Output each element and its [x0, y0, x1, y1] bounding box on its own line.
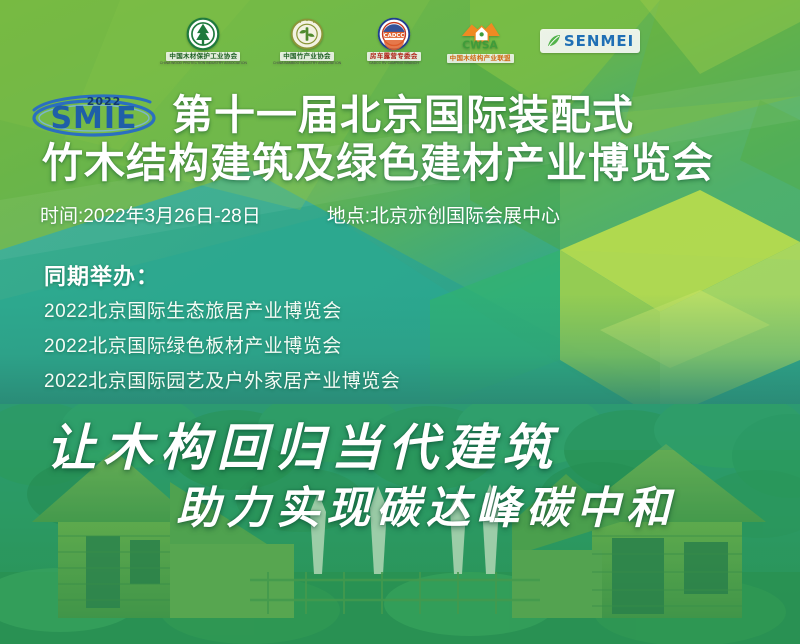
event-venue-label: 地点:: [327, 206, 370, 227]
senmei-wordmark-text: SENMEI: [564, 32, 634, 50]
concurrent-event-item: 2022北京国际园艺及户外家居产业博览会: [44, 370, 780, 394]
assoc-logo-cadcc-label: 房车露营专委会: [367, 52, 421, 61]
assoc-logo-bamboo-label: 中国竹产业协会: [280, 52, 334, 61]
event-venue-value: 北京亦创国际会展中心: [370, 206, 560, 227]
assoc-logo-cwsa-label: 中国木结构产业联盟: [447, 54, 514, 63]
association-logo-strip: 中国木材保护工业协会 CHINA WOOD PROTECTION INDUSTR…: [0, 12, 800, 70]
concurrent-event-item: 2022北京国际生态旅居产业博览会: [44, 300, 780, 324]
title-line-1: 第十一届北京国际装配式: [36, 92, 786, 138]
assoc-logo-cwpia-sublabel: CHINA WOOD PROTECTION INDUSTRY ASSOCIATI…: [160, 61, 247, 65]
assoc-logo-cwsa[interactable]: CWSA 中国木结构产业联盟: [447, 19, 514, 63]
slogan-line-1: 让木构回归当代建筑: [0, 418, 800, 478]
event-date-label: 时间:: [40, 206, 83, 227]
house-roof-icon: CWSA: [457, 19, 503, 53]
concurrent-events-block: 同期举办： 2022北京国际生态旅居产业博览会 2022北京国际绿色板材产业博览…: [44, 262, 780, 405]
assoc-logo-cadcc-sublabel: CADCC RV CAMPING BRANCH: [369, 61, 419, 65]
slogan-line-2: 助力实现碳达峰碳中和: [0, 482, 800, 536]
event-poster: 中国木材保护工业协会 CHINA WOOD PROTECTION INDUSTR…: [0, 0, 800, 644]
poster-slogan: 让木构回归当代建筑 助力实现碳达峰碳中和: [0, 418, 800, 536]
leaf-wordmark-icon: [546, 33, 562, 49]
event-date-value: 2022年3月26日-28日: [83, 206, 260, 227]
assoc-logo-bamboo-sublabel: CHINA BAMBOO INDUSTRY ASSOCIATION: [273, 61, 341, 65]
svg-text:CADCC: CADCC: [383, 33, 404, 39]
poster-title: 第十一届北京国际装配式 竹木结构建筑及绿色建材产业博览会: [36, 92, 786, 186]
concurrent-events-heading: 同期举办：: [44, 262, 780, 292]
assoc-logo-senmei[interactable]: SENMEI: [540, 29, 640, 53]
cwsa-abbr-text: CWSA: [462, 38, 498, 51]
assoc-logo-bamboo[interactable]: 中国竹产业协会 CHINA BAMBOO INDUSTRY ASSOCIATIO…: [273, 17, 341, 65]
title-line-2: 竹木结构建筑及绿色建材产业博览会: [36, 140, 786, 186]
event-venue: 地点:北京亦创国际会展中心: [327, 204, 560, 230]
assoc-logo-cwpia[interactable]: 中国木材保护工业协会 CHINA WOOD PROTECTION INDUSTR…: [160, 17, 247, 65]
event-date: 时间:2022年3月26日-28日: [40, 204, 261, 230]
pine-tree-shield-icon: [186, 17, 220, 51]
bamboo-seal-icon: [290, 17, 324, 51]
assoc-logo-cadcc[interactable]: CADCC 房车露营专委会 CADCC RV CAMPING BRANCH: [367, 17, 421, 65]
rv-camping-badge-icon: CADCC: [377, 17, 411, 51]
concurrent-event-item: 2022北京国际绿色板材产业博览会: [44, 335, 780, 359]
assoc-logo-cwpia-label: 中国木材保护工业协会: [166, 52, 240, 61]
event-meta-row: 时间:2022年3月26日-28日 地点:北京亦创国际会展中心: [40, 204, 780, 230]
